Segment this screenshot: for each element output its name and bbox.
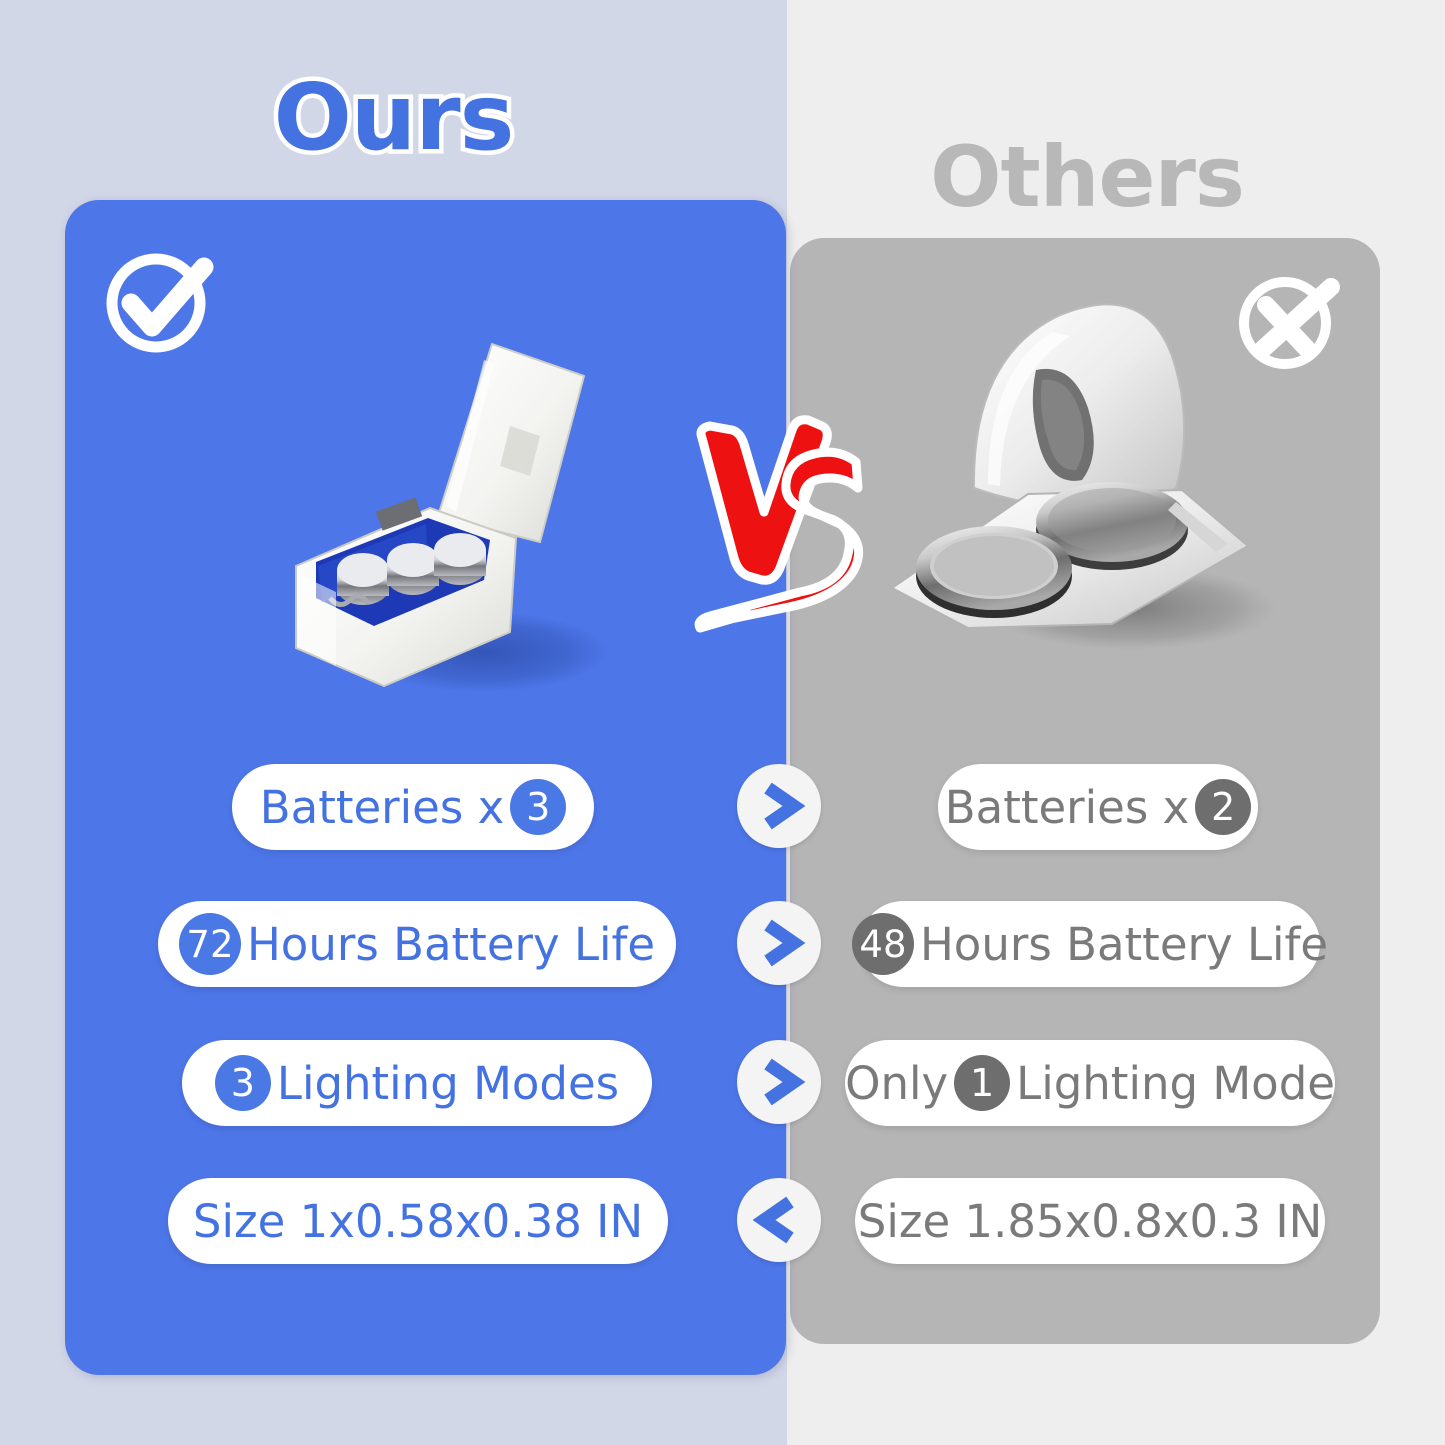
others-feature-pill: Batteries x 2 [938, 764, 1258, 850]
comparison-row: Size 1x0.58x0.38 IN Size 1.85x0.8x0.3 IN [0, 1178, 1445, 1264]
pill-badge: 72 [179, 913, 241, 975]
comparison-operator-icon [737, 1040, 821, 1124]
others-product-image [876, 288, 1286, 676]
comparison-operator-icon [737, 901, 821, 985]
pill-text: Only [845, 1061, 948, 1106]
pill-badge: 48 [852, 913, 914, 975]
pill-text: Lighting Mode [1016, 1061, 1335, 1106]
pill-text: Hours Battery Life [920, 922, 1328, 967]
versus-icon [688, 408, 874, 640]
comparison-operator-icon [737, 764, 821, 848]
pill-badge: 3 [510, 779, 566, 835]
others-feature-pill: 48 Hours Battery Life [860, 901, 1320, 987]
comparison-row: Batteries x 3 Batteries x 2 [0, 764, 1445, 850]
pill-text: Batteries x [945, 785, 1190, 830]
pill-badge: 1 [954, 1055, 1010, 1111]
pill-badge: 2 [1195, 779, 1251, 835]
ours-feature-pill: Batteries x 3 [232, 764, 594, 850]
comparison-operator-icon [737, 1178, 821, 1262]
comparison-row: 72 Hours Battery Life 48 Hours Battery L… [0, 901, 1445, 987]
pill-badge: 3 [215, 1055, 271, 1111]
pill-text: Hours Battery Life [247, 922, 655, 967]
others-feature-pill: Size 1.85x0.8x0.3 IN [855, 1178, 1325, 1264]
others-feature-pill: Only 1 Lighting Mode [845, 1040, 1335, 1126]
ours-product-image [278, 330, 618, 702]
check-circle-icon [100, 243, 216, 359]
ours-feature-pill: Size 1x0.58x0.38 IN [168, 1178, 668, 1264]
pill-text: Size 1x0.58x0.38 IN [193, 1199, 643, 1244]
pill-text: Size 1.85x0.8x0.3 IN [858, 1199, 1323, 1244]
comparison-row: 3 Lighting Modes Only 1 Lighting Mode [0, 1040, 1445, 1126]
ours-title: Ours [0, 64, 787, 171]
ours-feature-pill: 72 Hours Battery Life [158, 901, 676, 987]
ours-feature-pill: 3 Lighting Modes [182, 1040, 652, 1126]
pill-text: Lighting Modes [277, 1061, 619, 1106]
pill-text: Batteries x [260, 785, 505, 830]
others-title: Others [787, 128, 1387, 226]
